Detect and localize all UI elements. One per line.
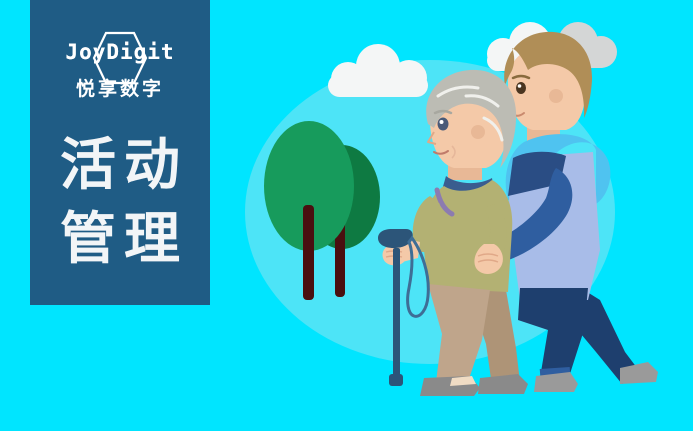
page-title-line-1: 活动	[30, 138, 210, 194]
logo-subtitle: 悦享数字	[30, 80, 210, 99]
page-title-line-2: 管理	[30, 212, 210, 268]
cloud-left	[328, 44, 428, 97]
poster-canvas: JoyDigit 悦享数字 活动 管理	[0, 0, 693, 431]
logo-wordmark: JoyDigit	[30, 42, 210, 63]
logo-block: JoyDigit 悦享数字	[30, 28, 210, 114]
brand-panel: JoyDigit 悦享数字 活动 管理	[30, 0, 210, 305]
